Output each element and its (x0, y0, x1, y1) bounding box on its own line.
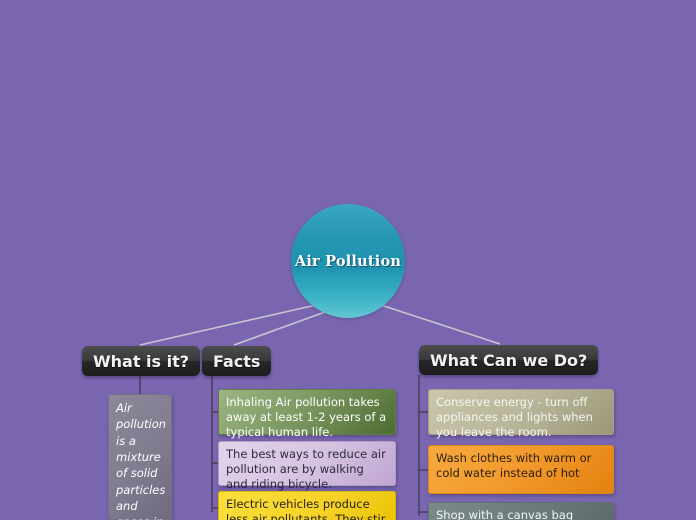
card-text: The best ways to reduce air pollution ar… (226, 447, 388, 493)
card-what-can-we-do-2[interactable]: Wash clothes with warm or cold water ins… (428, 445, 614, 494)
edge-to-what-can-we-do (381, 305, 500, 344)
card-text: Wash clothes with warm or cold water ins… (436, 451, 606, 481)
branch-header-facts[interactable]: Facts (202, 346, 271, 376)
branch-header-label: What Can we Do? (430, 351, 587, 370)
card-text: Inhaling Air pollution takes away at lea… (226, 395, 388, 441)
root-node[interactable]: Air Pollution (291, 204, 405, 318)
mindmap-canvas: Air Pollution What is it? Air pollution … (0, 0, 696, 520)
card-what-is-it-1[interactable]: Air pollution is a mixture of solid part… (108, 394, 172, 520)
card-text: Shop with a canvas bag (436, 508, 606, 520)
card-facts-1[interactable]: Inhaling Air pollution takes away at lea… (218, 389, 396, 435)
card-text: Air pollution is a mixture of solid part… (116, 400, 164, 520)
card-facts-2[interactable]: The best ways to reduce air pollution ar… (218, 441, 396, 486)
card-what-can-we-do-1[interactable]: Conserve energy - turn off appliances an… (428, 389, 614, 435)
edge-to-facts (234, 312, 325, 345)
card-what-can-we-do-3[interactable]: Shop with a canvas bag (428, 502, 614, 520)
card-text: Electric vehicles produce less air pollu… (226, 497, 388, 520)
card-text: Conserve energy - turn off appliances an… (436, 395, 606, 441)
edge-to-what-is-it (140, 305, 316, 345)
root-node-label: Air Pollution (295, 253, 401, 270)
branch-header-what-is-it[interactable]: What is it? (82, 346, 200, 376)
card-facts-3[interactable]: Electric vehicles produce less air pollu… (218, 491, 396, 520)
branch-header-label: Facts (213, 352, 260, 371)
branch-header-label: What is it? (93, 352, 189, 371)
branch-header-what-can-we-do[interactable]: What Can we Do? (419, 345, 598, 375)
